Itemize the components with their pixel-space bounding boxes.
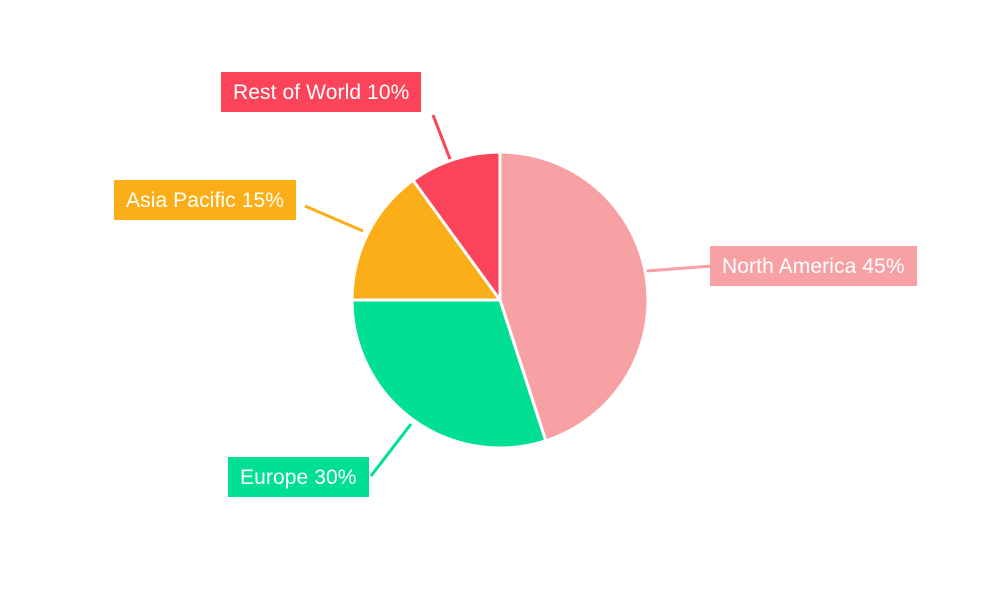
pie-label-asia-pacific-text: Asia Pacific 15% bbox=[126, 190, 284, 211]
leader-line-europe bbox=[371, 424, 411, 476]
pie-label-north-america-text: North America 45% bbox=[722, 256, 905, 277]
pie-label-rest-of-world: Rest of World 10% bbox=[221, 72, 421, 112]
pie-label-europe-text: Europe 30% bbox=[240, 467, 357, 488]
pie-label-europe: Europe 30% bbox=[228, 457, 369, 497]
pie-label-asia-pacific: Asia Pacific 15% bbox=[114, 180, 296, 220]
pie-label-rest-of-world-text: Rest of World 10% bbox=[233, 82, 409, 103]
pie-slices-group bbox=[352, 152, 648, 448]
pie-chart-figure: North America 45% Europe 30% Asia Pacifi… bbox=[0, 0, 1000, 600]
leader-line-north-america bbox=[646, 266, 712, 271]
pie-chart-canvas bbox=[0, 0, 1000, 600]
pie-label-north-america: North America 45% bbox=[710, 246, 917, 286]
leader-line-asia-pacific bbox=[305, 206, 363, 231]
